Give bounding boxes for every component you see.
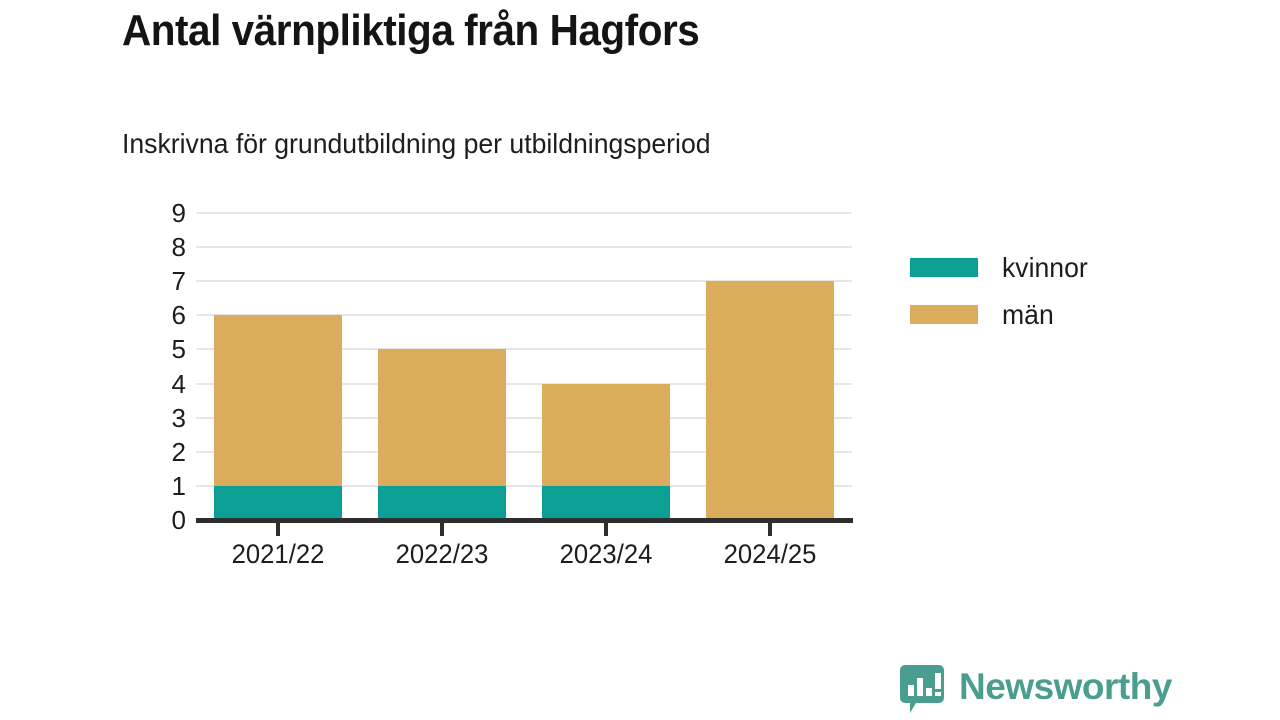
chart-plot-bars — [196, 213, 852, 520]
x-axis-tick — [440, 523, 444, 536]
bar-segment-kvinnor[interactable] — [542, 486, 670, 520]
legend-swatch-man — [910, 305, 978, 324]
y-axis-tick-label: 2 — [172, 439, 186, 465]
y-axis: 0123456789 — [140, 213, 186, 520]
legend-item-label: kvinnor — [1002, 252, 1088, 284]
chart-legend: kvinnormän — [910, 244, 1092, 338]
y-axis-tick-label: 7 — [172, 268, 186, 294]
bar-segment-män[interactable] — [214, 315, 342, 486]
x-axis-tick — [276, 523, 280, 536]
bar-segment-män[interactable] — [378, 349, 506, 485]
y-axis-tick-label: 1 — [172, 473, 186, 499]
y-axis-tick-label: 0 — [172, 507, 186, 533]
x-axis-tick-label: 2023/24 — [530, 539, 682, 570]
legend-item-label: män — [1002, 299, 1054, 331]
newsworthy-bar-chart-bubble-icon — [899, 664, 945, 714]
bar-segment-män[interactable] — [542, 384, 670, 486]
newsworthy-wordmark: Newsworthy — [959, 668, 1172, 705]
x-axis-line — [196, 518, 853, 523]
legend-item-kvinnor[interactable]: kvinnor — [910, 244, 1092, 291]
bar-segment-män[interactable] — [706, 281, 834, 520]
legend-swatch-kvinnor — [910, 258, 978, 277]
x-axis-tick-label: 2021/22 — [202, 539, 354, 570]
x-axis-tick-label: 2022/23 — [366, 539, 518, 570]
page-title: Antal värnpliktiga från Hagfors — [122, 6, 699, 56]
newsworthy-logo: Newsworthy — [899, 664, 1172, 714]
legend-item-män[interactable]: män — [910, 291, 1092, 338]
y-axis-tick-label: 6 — [172, 302, 186, 328]
y-axis-tick-label: 4 — [172, 371, 186, 397]
bar-segment-kvinnor[interactable] — [378, 486, 506, 520]
y-axis-tick-label: 8 — [172, 234, 186, 260]
bar-segment-kvinnor[interactable] — [214, 486, 342, 520]
x-axis-tick-label: 2024/25 — [694, 539, 846, 570]
y-axis-tick-label: 5 — [172, 336, 186, 362]
y-axis-tick-label: 3 — [172, 405, 186, 431]
x-axis-tick — [604, 523, 608, 536]
y-axis-tick-label: 9 — [172, 200, 186, 226]
x-axis-tick — [768, 523, 772, 536]
chart-subtitle: Inskrivna för grundutbildning per utbild… — [122, 128, 711, 160]
